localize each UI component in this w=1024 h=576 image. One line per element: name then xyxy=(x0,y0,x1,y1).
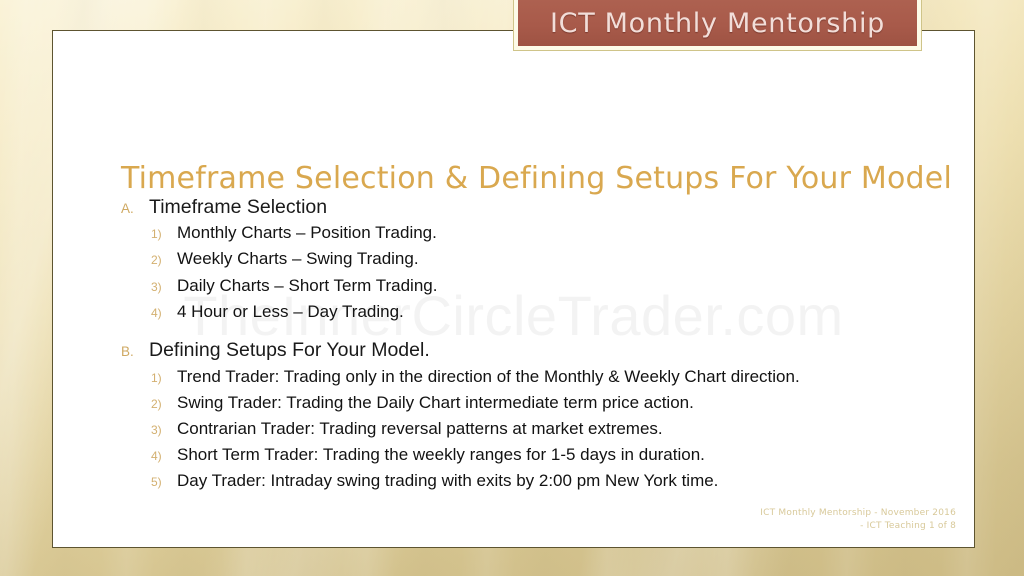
list-item-marker: 4) xyxy=(151,306,177,320)
list-item-text: Trend Trader: Trading only in the direct… xyxy=(177,365,800,390)
list-item-marker: 3) xyxy=(151,423,177,437)
section-heading: B. Defining Setups For Your Model. xyxy=(121,338,954,363)
list-item-text: Contrarian Trader: Trading reversal patt… xyxy=(177,417,663,442)
section-timeframe-selection: A. Timeframe Selection 1) Monthly Charts… xyxy=(121,195,954,324)
content-body: A. Timeframe Selection 1) Monthly Charts… xyxy=(121,195,954,495)
list-item: 4) Short Term Trader: Trading the weekly… xyxy=(121,443,954,468)
section-title: Timeframe Selection xyxy=(149,195,327,220)
footer-line-2: - ICT Teaching 1 of 8 xyxy=(760,520,956,533)
section-defining-setups: B. Defining Setups For Your Model. 1) Tr… xyxy=(121,338,954,494)
page-title: Timeframe Selection & Defining Setups Fo… xyxy=(121,161,921,196)
section-title: Defining Setups For Your Model. xyxy=(149,338,430,363)
section-marker: B. xyxy=(121,344,149,359)
header-banner: ICT Monthly Mentorship xyxy=(513,0,922,51)
list-item-text: Daily Charts – Short Term Trading. xyxy=(177,274,437,299)
section-marker: A. xyxy=(121,201,149,216)
list-item-marker: 3) xyxy=(151,280,177,294)
list-item-text: Swing Trader: Trading the Daily Chart in… xyxy=(177,391,694,416)
list-item: 4) 4 Hour or Less – Day Trading. xyxy=(121,300,954,325)
list-item-text: 4 Hour or Less – Day Trading. xyxy=(177,300,404,325)
section-item-list: 1) Monthly Charts – Position Trading. 2)… xyxy=(121,221,954,324)
list-item: 2) Weekly Charts – Swing Trading. xyxy=(121,247,954,272)
header-banner-fill: ICT Monthly Mentorship xyxy=(518,0,917,46)
list-item-marker: 5) xyxy=(151,475,177,489)
list-item: 1) Monthly Charts – Position Trading. xyxy=(121,221,954,246)
list-item-marker: 1) xyxy=(151,371,177,385)
list-item-marker: 4) xyxy=(151,449,177,463)
list-item-text: Monthly Charts – Position Trading. xyxy=(177,221,437,246)
list-item-text: Weekly Charts – Swing Trading. xyxy=(177,247,419,272)
header-banner-title: ICT Monthly Mentorship xyxy=(550,8,885,39)
slide-root: TheInnerCircleTrader.com Timeframe Selec… xyxy=(0,0,1024,576)
section-heading: A. Timeframe Selection xyxy=(121,195,954,220)
list-item: 2) Swing Trader: Trading the Daily Chart… xyxy=(121,391,954,416)
list-item: 5) Day Trader: Intraday swing trading wi… xyxy=(121,469,954,494)
list-item-text: Day Trader: Intraday swing trading with … xyxy=(177,469,718,494)
list-item: 3) Contrarian Trader: Trading reversal p… xyxy=(121,417,954,442)
slide-content-panel: TheInnerCircleTrader.com Timeframe Selec… xyxy=(52,30,975,548)
list-item-marker: 1) xyxy=(151,227,177,241)
slide-footer: ICT Monthly Mentorship - November 2016 -… xyxy=(760,507,956,533)
list-item-text: Short Term Trader: Trading the weekly ra… xyxy=(177,443,705,468)
list-item: 1) Trend Trader: Trading only in the dir… xyxy=(121,365,954,390)
footer-line-1: ICT Monthly Mentorship - November 2016 xyxy=(760,507,956,520)
section-item-list: 1) Trend Trader: Trading only in the dir… xyxy=(121,365,954,494)
list-item: 3) Daily Charts – Short Term Trading. xyxy=(121,274,954,299)
list-item-marker: 2) xyxy=(151,253,177,267)
list-item-marker: 2) xyxy=(151,397,177,411)
